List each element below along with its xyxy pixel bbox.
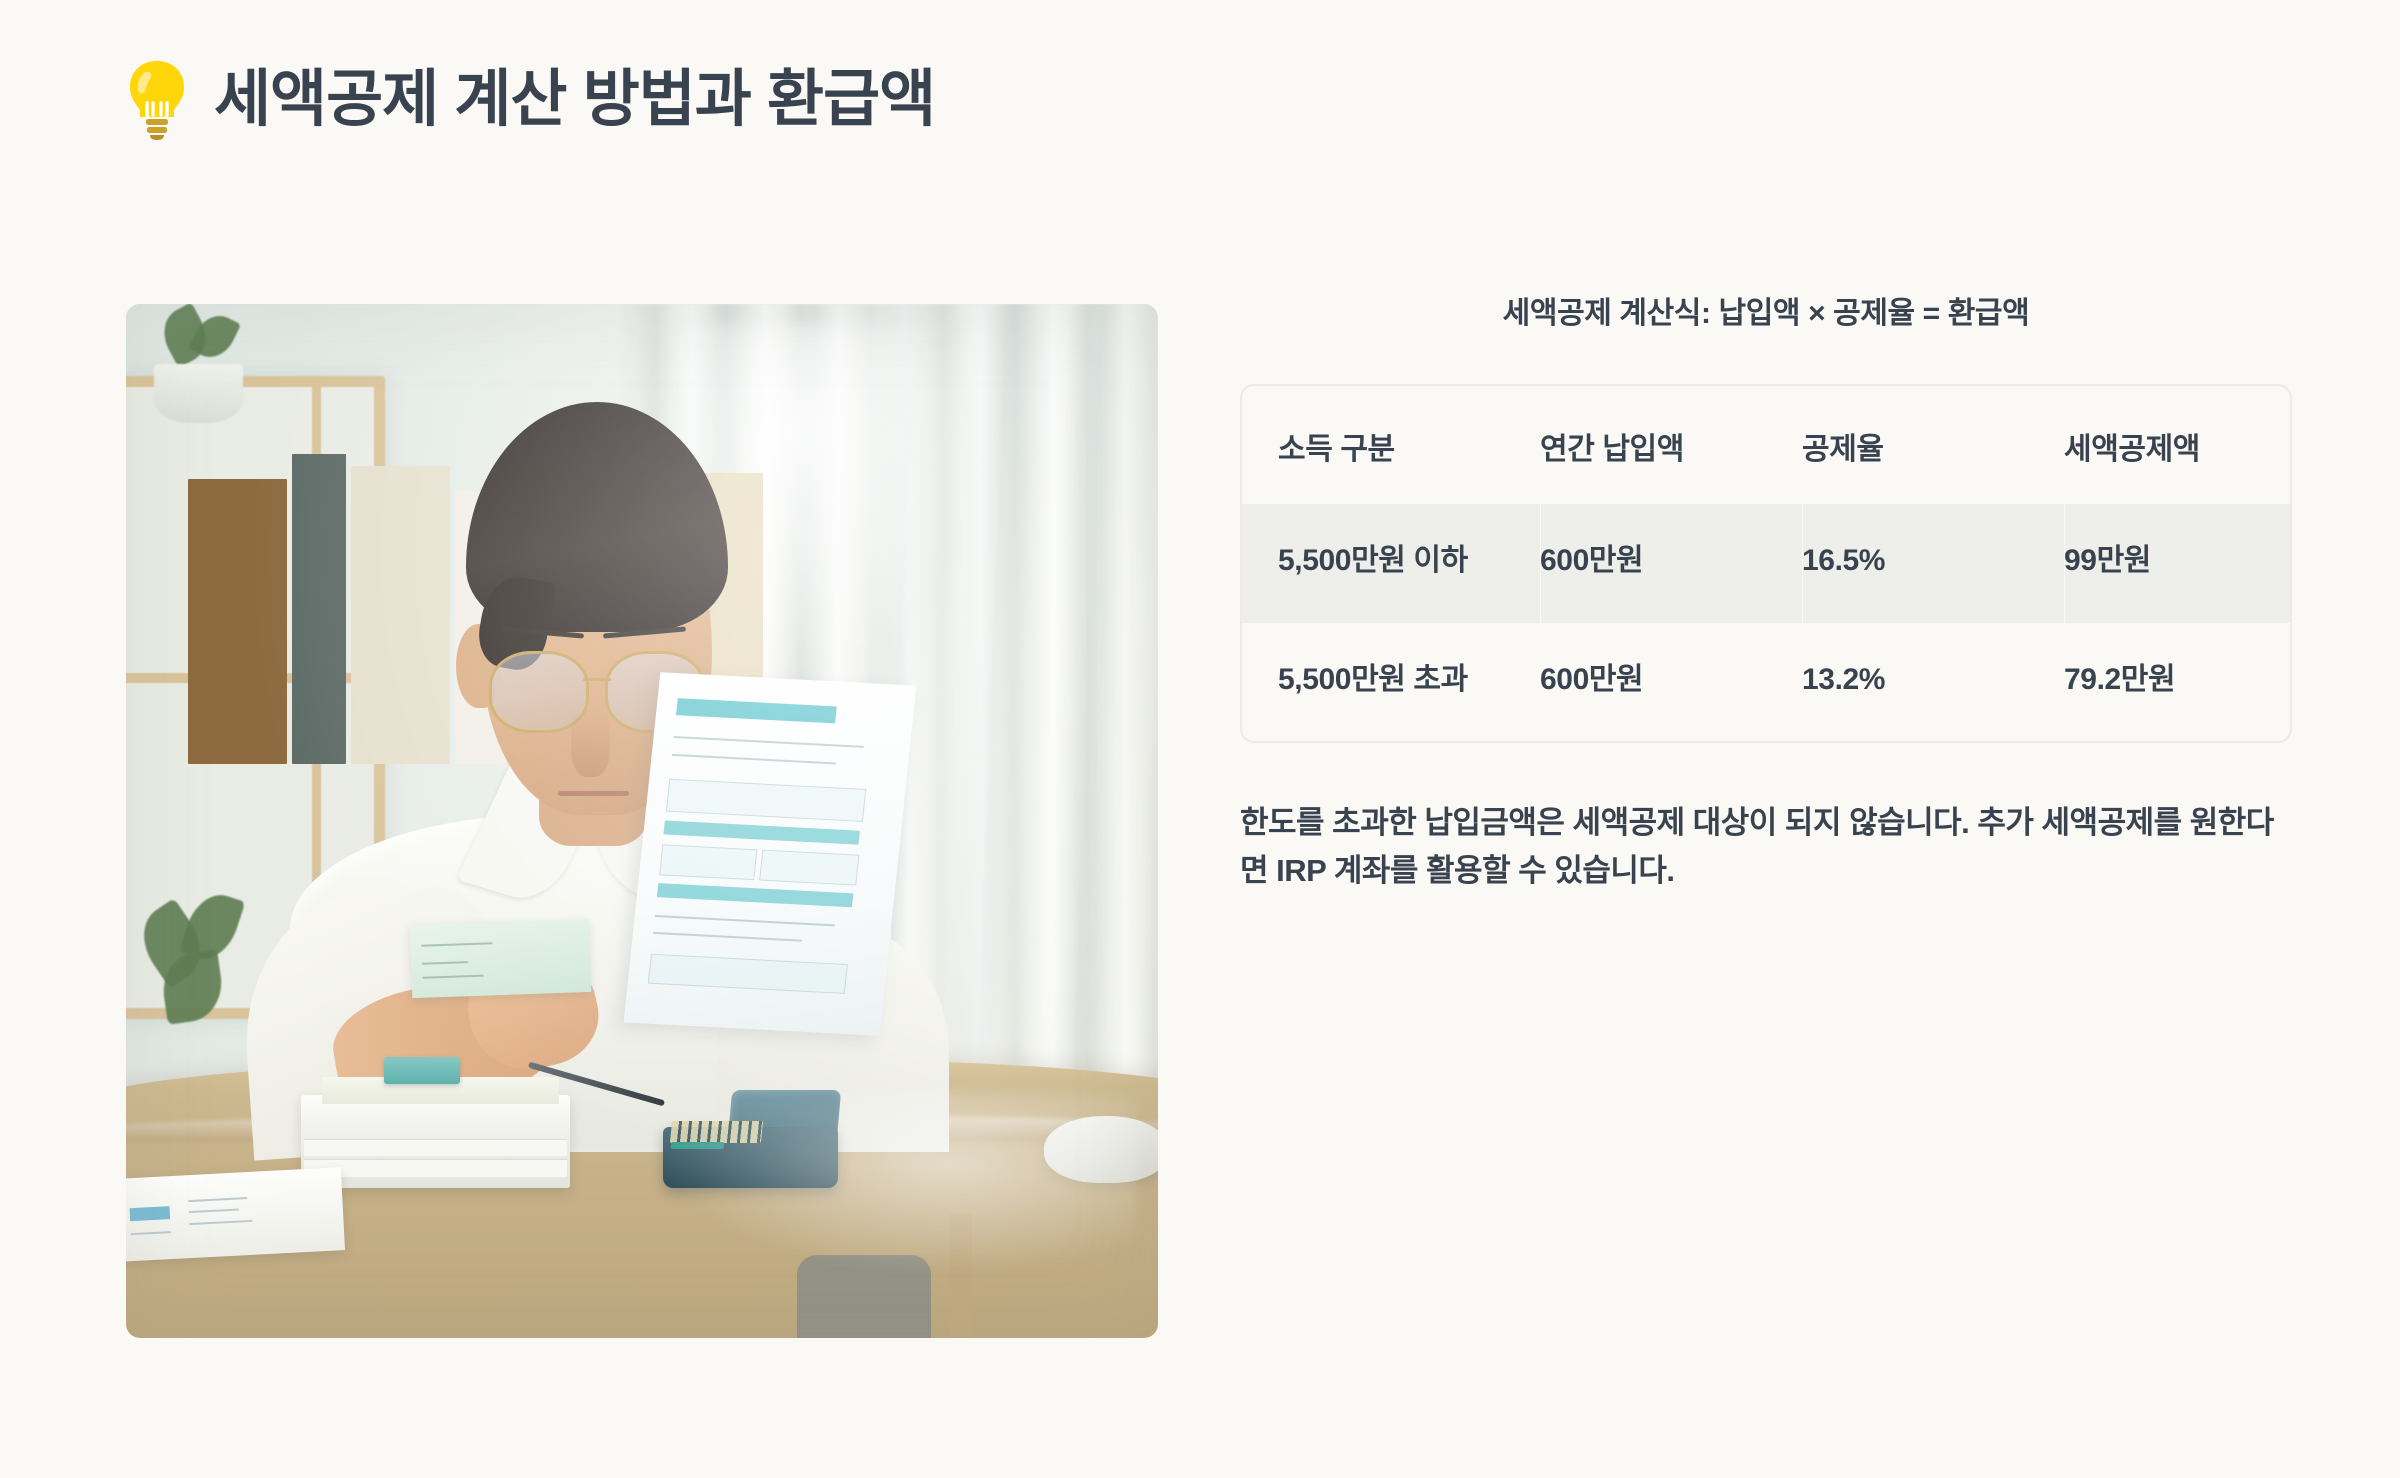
column-header-tax-credit: 세액공제액: [2064, 386, 2292, 504]
glasses-bridge: [583, 678, 611, 681]
hair: [466, 402, 728, 632]
document-band: [657, 883, 853, 907]
notebook-line: [188, 1208, 238, 1213]
person-figure: [270, 387, 910, 1152]
cell-tax-credit: 99만원: [2064, 504, 2292, 623]
mouth: [558, 791, 628, 796]
tax-document: [623, 672, 916, 1035]
teal-eraser-block: [384, 1057, 460, 1084]
slip-line: [423, 975, 484, 979]
document-line: [674, 736, 864, 748]
cell-annual-payment: 600만원: [1540, 623, 1802, 742]
formula-caption: 세액공제 계산식: 납입액 × 공제율 = 환급액: [1240, 288, 2292, 332]
table-row: 5,500만원 이하 600만원 16.5% 99만원: [1242, 504, 2292, 623]
notebook-line: [130, 1230, 171, 1234]
notebook-line: [188, 1196, 247, 1201]
page-root: 세액공제 계산 방법과 환급액: [0, 0, 2400, 1478]
tax-credit-table-card: 소득 구분 연간 납입액 공제율 세액공제액 5,500만원 이하 600만원 …: [1240, 384, 2292, 743]
cell-annual-payment: 600만원: [1540, 504, 1802, 623]
table-row: 5,500만원 초과 600만원 13.2% 79.2만원: [1242, 623, 2292, 742]
green-receipt-slip: [410, 919, 592, 998]
cell-deduction-rate: 13.2%: [1802, 623, 2064, 742]
document-line: [655, 914, 834, 925]
document-cell: [666, 778, 866, 822]
paper-stack: [301, 1095, 569, 1188]
lightbulb-icon: [126, 59, 188, 141]
document-band: [664, 820, 860, 844]
document-line: [672, 753, 836, 764]
document-cell: [659, 844, 756, 879]
document-cell: [759, 850, 859, 885]
illustration-photo: [126, 304, 1158, 1338]
tax-credit-table: 소득 구분 연간 납입액 공제율 세액공제액 5,500만원 이하 600만원 …: [1242, 386, 2292, 741]
table-body: 5,500만원 이하 600만원 16.5% 99만원 5,500만원 초과 6…: [1242, 504, 2292, 741]
page-title: 세액공제 계산 방법과 환급액: [214, 66, 935, 134]
document-line: [653, 932, 802, 942]
cell-deduction-rate: 16.5%: [1802, 504, 2064, 623]
desk-light-glow: [663, 1090, 1138, 1276]
open-notebook: [126, 1167, 345, 1261]
table-header-row: 소득 구분 연간 납입액 공제율 세액공제액: [1242, 386, 2292, 504]
plant-pot: [154, 364, 243, 423]
note-paragraph: 한도를 초과한 납입금액은 세액공제 대상이 되지 않습니다. 추가 세액공제를…: [1240, 799, 2280, 895]
table-header: 소득 구분 연간 납입액 공제율 세액공제액: [1242, 386, 2292, 504]
nose: [571, 708, 609, 777]
document-cell: [648, 953, 848, 993]
column-header-income-bracket: 소득 구분: [1242, 386, 1540, 504]
column-header-deduction-rate: 공제율: [1802, 386, 2064, 504]
cell-tax-credit: 79.2만원: [2064, 623, 2292, 742]
slip-line: [422, 961, 469, 965]
column-header-annual-payment: 연간 납입액: [1540, 386, 1802, 504]
notebook-line: [189, 1219, 253, 1224]
document-header-band: [676, 697, 836, 723]
page-header: 세액공제 계산 방법과 환급액: [126, 52, 935, 148]
cell-income-bracket: 5,500만원 초과: [1242, 623, 1540, 742]
potted-plant-top: [141, 309, 265, 423]
notebook-blue-mark: [129, 1205, 170, 1220]
cell-income-bracket: 5,500만원 이하: [1242, 504, 1540, 623]
photo-scene: [126, 304, 1158, 1338]
slip-line: [421, 943, 493, 947]
content-column: 세액공제 계산식: 납입액 × 공제율 = 환급액 소득 구분 연간 납입액 공…: [1240, 288, 2292, 895]
